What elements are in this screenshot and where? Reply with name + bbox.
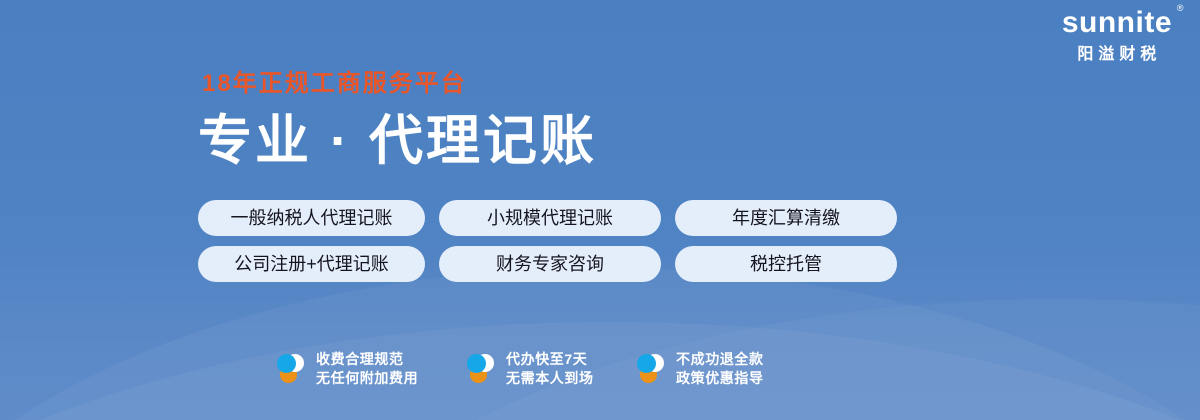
feature-line-1: 不成功退全款 <box>676 350 764 369</box>
service-tag-tax-control-hosting[interactable]: 税控托管 <box>675 246 897 282</box>
feature-line-2: 政策优惠指导 <box>676 369 764 388</box>
feature-text-pricing: 收费合理规范 无任何附加费用 <box>316 350 418 388</box>
eyebrow-text: 18年正规工商服务平台 <box>202 72 597 96</box>
service-tag-list: 一般纳税人代理记账 小规模代理记账 年度汇算清缴 公司注册+代理记账 财务专家咨… <box>198 200 897 292</box>
service-tag-expert-consulting[interactable]: 财务专家咨询 <box>439 246 661 282</box>
logo-wordmark-text: sunnite <box>1062 6 1172 39</box>
feature-item-speed: 代办快至7天 无需本人到场 <box>465 350 635 388</box>
logo-chinese-name: 阳溢财税 <box>1062 47 1172 63</box>
logo-wordmark: sunnite ® <box>1062 8 1172 38</box>
crescent-badge-dot <box>467 354 486 373</box>
feature-line-2: 无需本人到场 <box>506 369 594 388</box>
crescent-badge-dot <box>277 354 296 373</box>
service-tag-row-2: 公司注册+代理记账 财务专家咨询 税控托管 <box>198 246 897 282</box>
feature-strip: 收费合理规范 无任何附加费用 代办快至7天 无需本人到场 不成功退全款 <box>275 350 815 388</box>
feature-line-1: 代办快至7天 <box>506 350 594 369</box>
service-tag-general-taxpayer[interactable]: 一般纳税人代理记账 <box>198 200 425 236</box>
feature-text-guarantee: 不成功退全款 政策优惠指导 <box>676 350 764 388</box>
promo-banner: sunnite ® 阳溢财税 18年正规工商服务平台 专业 · 代理记账 一般纳… <box>0 0 1200 420</box>
service-tag-row-1: 一般纳税人代理记账 小规模代理记账 年度汇算清缴 <box>198 200 897 236</box>
feature-line-1: 收费合理规范 <box>316 350 418 369</box>
registered-trademark-icon: ® <box>1177 4 1184 13</box>
background-wave-accent <box>295 273 1200 420</box>
headline-block: 18年正规工商服务平台 专业 · 代理记账 <box>198 72 597 168</box>
service-tag-annual-settlement[interactable]: 年度汇算清缴 <box>675 200 897 236</box>
feature-line-2: 无任何附加费用 <box>316 369 418 388</box>
feature-item-pricing: 收费合理规范 无任何附加费用 <box>275 350 465 388</box>
crescent-badge-icon <box>635 352 665 386</box>
service-tag-company-registration[interactable]: 公司注册+代理记账 <box>198 246 425 282</box>
brand-logo[interactable]: sunnite ® 阳溢财税 <box>1062 8 1172 63</box>
crescent-badge-icon <box>275 352 305 386</box>
crescent-badge-dot <box>637 354 656 373</box>
crescent-badge-icon <box>465 352 495 386</box>
feature-text-speed: 代办快至7天 无需本人到场 <box>506 350 594 388</box>
feature-item-guarantee: 不成功退全款 政策优惠指导 <box>635 350 815 388</box>
page-title: 专业 · 代理记账 <box>198 114 597 168</box>
service-tag-small-scale[interactable]: 小规模代理记账 <box>439 200 661 236</box>
